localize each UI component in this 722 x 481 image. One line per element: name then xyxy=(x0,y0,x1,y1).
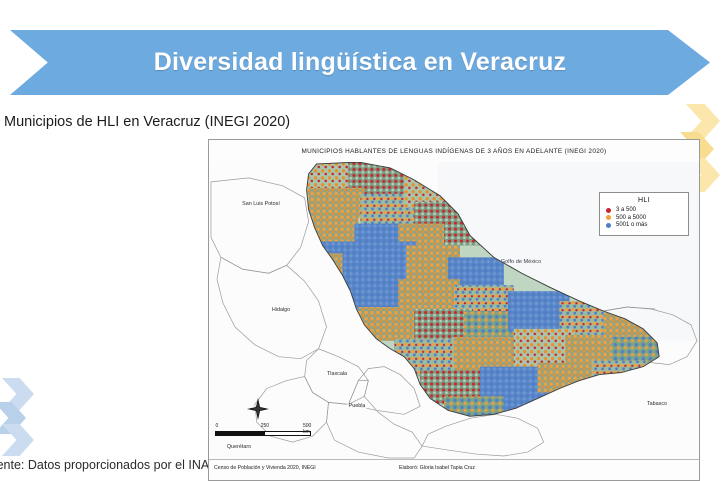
map-title: MUNICIPIOS HABLANTES DE LENGUAS INDÍGENA… xyxy=(209,140,699,163)
chevron-shape xyxy=(2,378,34,410)
source-note: Fuente: Datos proporcionados por el INAL… xyxy=(0,458,220,472)
scale-bar-graphic xyxy=(215,431,311,436)
chevron-shape xyxy=(0,402,26,434)
scale-tick-mid: 250 xyxy=(261,423,269,429)
map-label-puebla: Puebla xyxy=(347,403,368,409)
map-label-golfo-de-mexico: Golfo de México xyxy=(501,259,541,265)
legend-swatch-red xyxy=(606,208,611,213)
map-label-hidalgo: Hidalgo xyxy=(270,307,292,313)
map-label-queretaro: Querétaro xyxy=(225,444,253,450)
legend-label: 3 a 500 xyxy=(616,207,636,213)
slide-subtitle: Municipios de HLI en Veracruz (INEGI 202… xyxy=(4,114,290,130)
slide-title: Diversidad lingüística en Veracruz xyxy=(154,48,567,77)
compass-rose-icon xyxy=(247,398,269,420)
map-label-san-luis-potosi: San Luis Potosí xyxy=(240,201,282,207)
map-source-text: Censo de Población y Vivienda 2020, INEG… xyxy=(214,465,316,471)
map-credits: Censo de Población y Vivienda 2020, INEG… xyxy=(209,459,699,480)
legend-item: 3 a 500 xyxy=(606,207,682,213)
map-author-text: Elaboró: Gloria Isabel Tapia Cruz xyxy=(399,465,475,471)
map-label-tlaxcala: Tlaxcala xyxy=(325,371,349,377)
map-label-tabasco: Tabasco xyxy=(645,401,669,407)
decorative-chevron-left xyxy=(0,378,42,454)
legend-label: 5001 o más xyxy=(616,222,647,228)
map-canvas: San Luis Potosí Hidalgo Querétaro Tlaxca… xyxy=(209,162,699,460)
slide-canvas: Diversidad lingüística en Veracruz Munic… xyxy=(0,0,722,481)
legend-swatch-blue xyxy=(606,223,611,228)
legend-swatch-orange xyxy=(606,215,611,220)
legend-label: 500 a 5000 xyxy=(616,215,646,221)
legend-item: 5001 o más xyxy=(606,222,682,228)
map-legend: HLI 3 a 500 500 a 5000 5001 o más xyxy=(599,192,689,236)
map-figure: MUNICIPIOS HABLANTES DE LENGUAS INDÍGENA… xyxy=(208,139,700,481)
scale-tick-0: 0 xyxy=(216,423,219,429)
chevron-shape xyxy=(686,104,720,138)
chevron-shape xyxy=(2,424,34,456)
legend-title: HLI xyxy=(606,197,682,204)
legend-item: 500 a 5000 xyxy=(606,215,682,221)
scale-tick-end: 500 km xyxy=(303,423,311,435)
map-scale-bar: 0 250 500 km xyxy=(215,423,311,436)
title-banner: Diversidad lingüística en Veracruz xyxy=(10,30,710,95)
